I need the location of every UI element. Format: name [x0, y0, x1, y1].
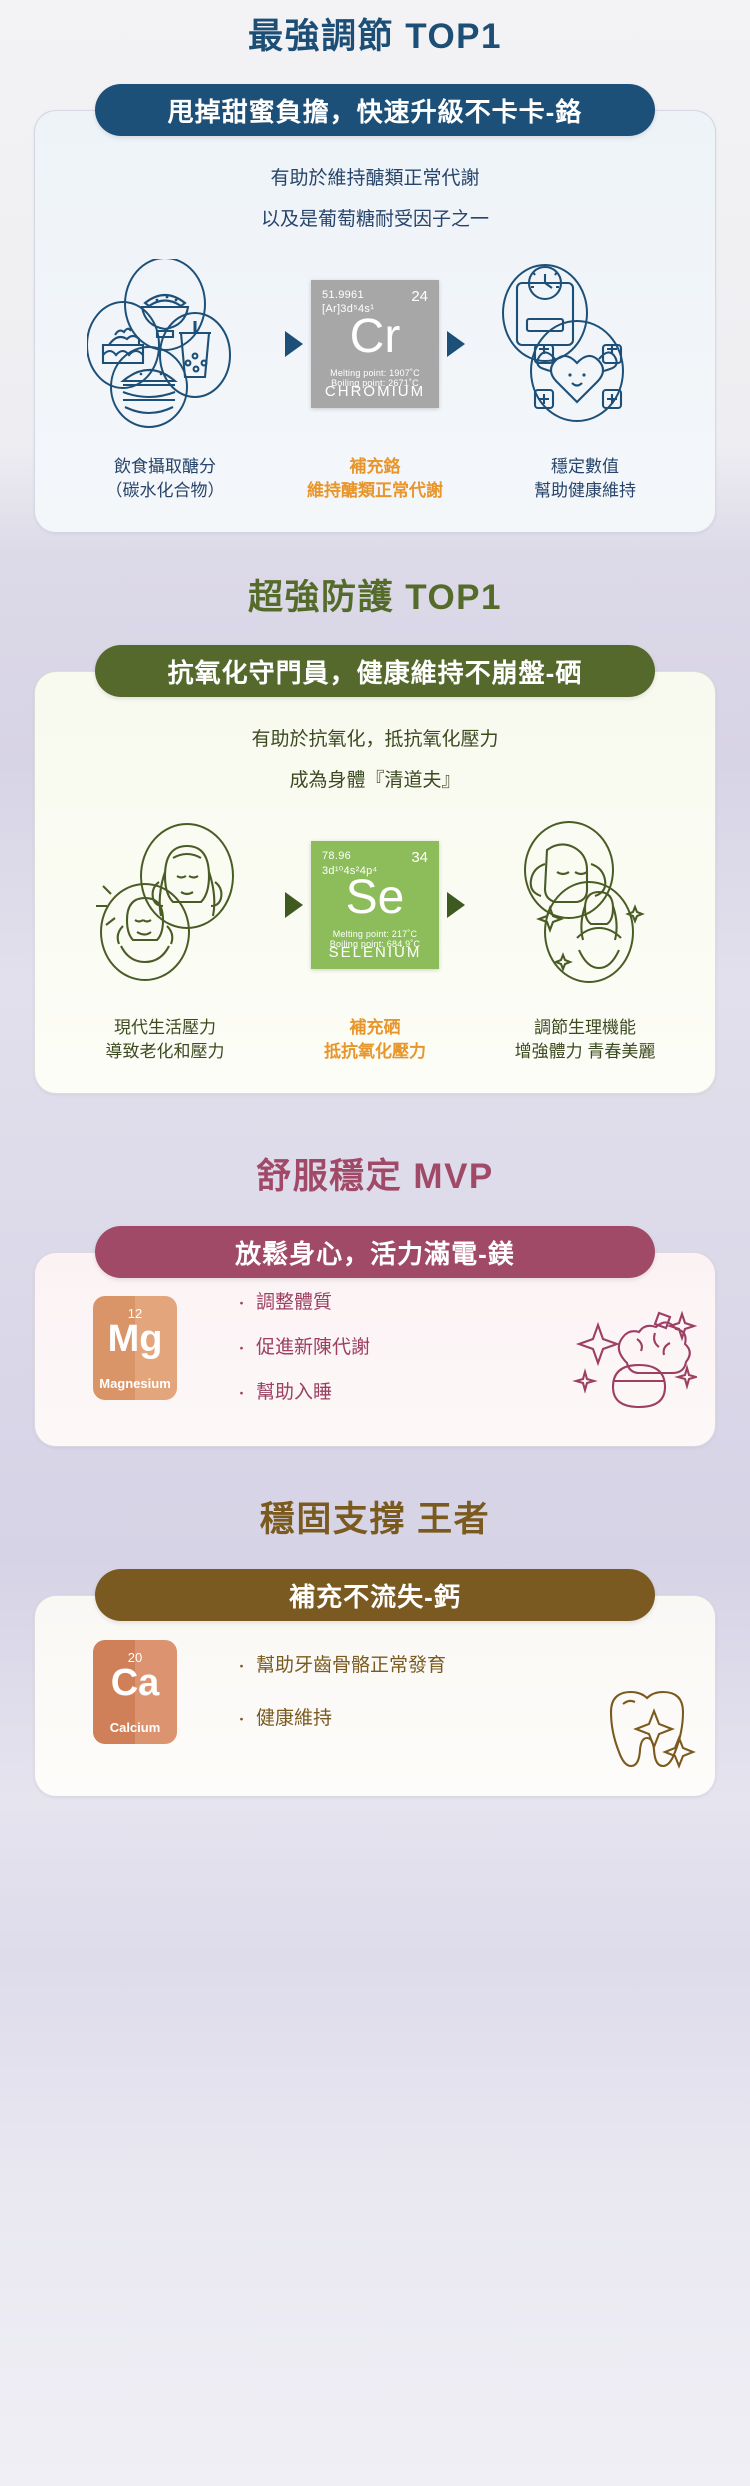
food-group-icon: [87, 259, 277, 429]
card-description-chromium: 有助於維持醣類正常代謝 以及是葡萄糖耐受因子之一: [35, 169, 715, 231]
food-icons-cluster: [87, 259, 277, 429]
element-name: CHROMIUM: [311, 383, 439, 400]
label-2-line-1: 補充硒: [270, 1016, 480, 1041]
list-item: ・調整體質: [235, 1293, 370, 1312]
label-col-3: 穩定數值 幫助健康維持: [480, 455, 690, 504]
element-atomic-number: 24: [411, 288, 428, 305]
label-3-line-2: 增強體力 青春美麗: [480, 1040, 690, 1065]
section-pill-chromium: 甩掉甜蜜負擔，快速升級不卡卡-鉻: [95, 84, 655, 136]
card-chromium: 有助於維持醣類正常代謝 以及是葡萄糖耐受因子之一: [34, 110, 716, 533]
muscle-beauty-icon: [473, 820, 663, 990]
scale-heart-icon: [473, 259, 663, 429]
label-col-1: 現代生活壓力 導致老化和壓力: [60, 1016, 270, 1065]
list-item: ・促進新陳代謝: [235, 1338, 370, 1357]
desc-line-1: 有助於抗氧化，抵抗氧化壓力: [35, 730, 715, 751]
flow-arrow-1: [285, 892, 303, 918]
benefit-text: 促進新陳代謝: [256, 1337, 370, 1358]
element-tile-calcium: 20 Ca Calcium: [93, 1640, 177, 1744]
card-description-selenium: 有助於抗氧化，抵抗氧化壓力 成為身體『清道夫』: [35, 730, 715, 792]
section-selenium: 超強防護 TOP1 抗氧化守門員，健康維持不崩盤-硒 有助於抗氧化，抵抗氧化壓力…: [0, 533, 750, 1094]
stressed-woman-icon: [87, 820, 277, 990]
flow-arrow-2: [447, 331, 465, 357]
labels-chromium: 飲食攝取醣分 （碳水化合物） 補充鉻 維持醣類正常代謝 穩定數值 幫助健康維持: [35, 455, 715, 504]
bullet-marker: ・: [235, 1659, 248, 1674]
label-3-line-2: 幫助健康維持: [480, 479, 690, 504]
benefit-list-calcium: ・幫助牙齒骨骼正常發育 ・健康維持: [235, 1656, 446, 1728]
card-magnesium: 12 Mg Magnesium ・調整體質 ・促進新陳代謝 ・幫助入睡: [34, 1252, 716, 1447]
label-2-line-1: 補充鉻: [270, 455, 480, 480]
label-2-line-2: 維持醣類正常代謝: [270, 479, 480, 504]
element-symbol: Cr: [311, 313, 439, 361]
benefit-text: 調整體質: [256, 1292, 332, 1313]
benefit-text: 幫助入睡: [256, 1382, 332, 1403]
flow-arrow-1: [285, 331, 303, 357]
bullet-marker: ・: [235, 1386, 248, 1401]
card-selenium: 有助於抗氧化，抵抗氧化壓力 成為身體『清道夫』: [34, 671, 716, 1094]
label-col-1: 飲食攝取醣分 （碳水化合物）: [60, 455, 270, 504]
label-3-line-1: 調節生理機能: [480, 1016, 690, 1041]
benefit-list-magnesium: ・調整體質 ・促進新陳代謝 ・幫助入睡: [235, 1293, 370, 1402]
element-atomic-mass: 51.9961: [322, 289, 364, 301]
bullet-marker: ・: [235, 1712, 248, 1727]
benefit-text: 健康維持: [256, 1708, 332, 1729]
element-symbol: Se: [311, 874, 439, 922]
sparkle-brain-icon: [567, 1295, 697, 1415]
label-2-line-2: 抵抗氧化壓力: [270, 1040, 480, 1065]
section-heading-chromium: 最強調節 TOP1: [0, 16, 750, 58]
section-magnesium: 舒服穩定 MVP 放鬆身心，活力滿電-鎂 12 Mg Magnesium ・調整…: [0, 1094, 750, 1447]
flow-selenium: 78.96 3d¹⁰4s²4p⁴ 34 Se Melting point: 21…: [35, 820, 715, 990]
element-melting-point: Melting point: 217˚C: [311, 929, 439, 939]
section-pill-calcium: 補充不流失-鈣: [95, 1569, 655, 1621]
card-calcium: 20 Ca Calcium ・幫助牙齒骨骼正常發育 ・健康維持: [34, 1595, 716, 1797]
element-atomic-number: 34: [411, 849, 428, 866]
section-pill-selenium: 抗氧化守門員，健康維持不崩盤-硒: [95, 645, 655, 697]
labels-selenium: 現代生活壓力 導致老化和壓力 補充硒 抵抗氧化壓力 調節生理機能 增強體力 青春…: [35, 1016, 715, 1065]
flow-arrow-2: [447, 892, 465, 918]
section-heading-magnesium: 舒服穩定 MVP: [0, 1156, 750, 1198]
element-tile-selenium: 78.96 3d¹⁰4s²4p⁴ 34 Se Melting point: 21…: [311, 841, 439, 969]
section-pill-magnesium: 放鬆身心，活力滿電-鎂: [95, 1226, 655, 1278]
vitality-icons-cluster: [473, 820, 663, 990]
benefit-text: 幫助牙齒骨骼正常發育: [256, 1655, 446, 1676]
element-symbol: Ca: [93, 1664, 177, 1704]
element-name: SELENIUM: [311, 944, 439, 961]
label-1-line-1: 飲食攝取醣分: [60, 455, 270, 480]
section-heading-calcium: 穩固支撐 王者: [0, 1499, 750, 1541]
element-tile-magnesium: 12 Mg Magnesium: [93, 1296, 177, 1400]
section-chromium: 最強調節 TOP1 甩掉甜蜜負擔，快速升級不卡卡-鉻 有助於維持醣類正常代謝 以…: [0, 0, 750, 533]
label-1-line-2: 導致老化和壓力: [60, 1040, 270, 1065]
label-3-line-1: 穩定數值: [480, 455, 690, 480]
section-calcium: 穩固支撐 王者 補充不流失-鈣 20 Ca Calcium ・幫助牙齒骨骼正常發…: [0, 1447, 750, 1797]
list-item: ・健康維持: [235, 1709, 446, 1728]
desc-line-1: 有助於維持醣類正常代謝: [35, 169, 715, 190]
tooth-star-icon: [587, 1676, 705, 1786]
desc-line-2: 成為身體『清道夫』: [35, 771, 715, 792]
desc-line-2: 以及是葡萄糖耐受因子之一: [35, 210, 715, 231]
label-col-2: 補充鉻 維持醣類正常代謝: [270, 455, 480, 504]
element-name: Calcium: [93, 1720, 177, 1735]
stress-icons-cluster: [87, 820, 277, 990]
bullet-marker: ・: [235, 1296, 248, 1311]
element-name: Magnesium: [93, 1376, 177, 1391]
bullet-marker: ・: [235, 1341, 248, 1356]
label-col-2: 補充硒 抵抗氧化壓力: [270, 1016, 480, 1065]
label-1-line-2: （碳水化合物）: [60, 479, 270, 504]
health-icons-cluster: [473, 259, 663, 429]
section-heading-selenium: 超強防護 TOP1: [0, 577, 750, 619]
label-1-line-1: 現代生活壓力: [60, 1016, 270, 1041]
element-symbol: Mg: [93, 1320, 177, 1360]
element-tile-chromium: 51.9961 [Ar]3d⁵4s¹ 24 Cr Melting point: …: [311, 280, 439, 408]
element-atomic-mass: 78.96: [322, 850, 351, 862]
list-item: ・幫助牙齒骨骼正常發育: [235, 1656, 446, 1675]
list-item: ・幫助入睡: [235, 1383, 370, 1402]
label-col-3: 調節生理機能 增強體力 青春美麗: [480, 1016, 690, 1065]
flow-chromium: 51.9961 [Ar]3d⁵4s¹ 24 Cr Melting point: …: [35, 259, 715, 429]
element-melting-point: Melting point: 1907˚C: [311, 368, 439, 378]
